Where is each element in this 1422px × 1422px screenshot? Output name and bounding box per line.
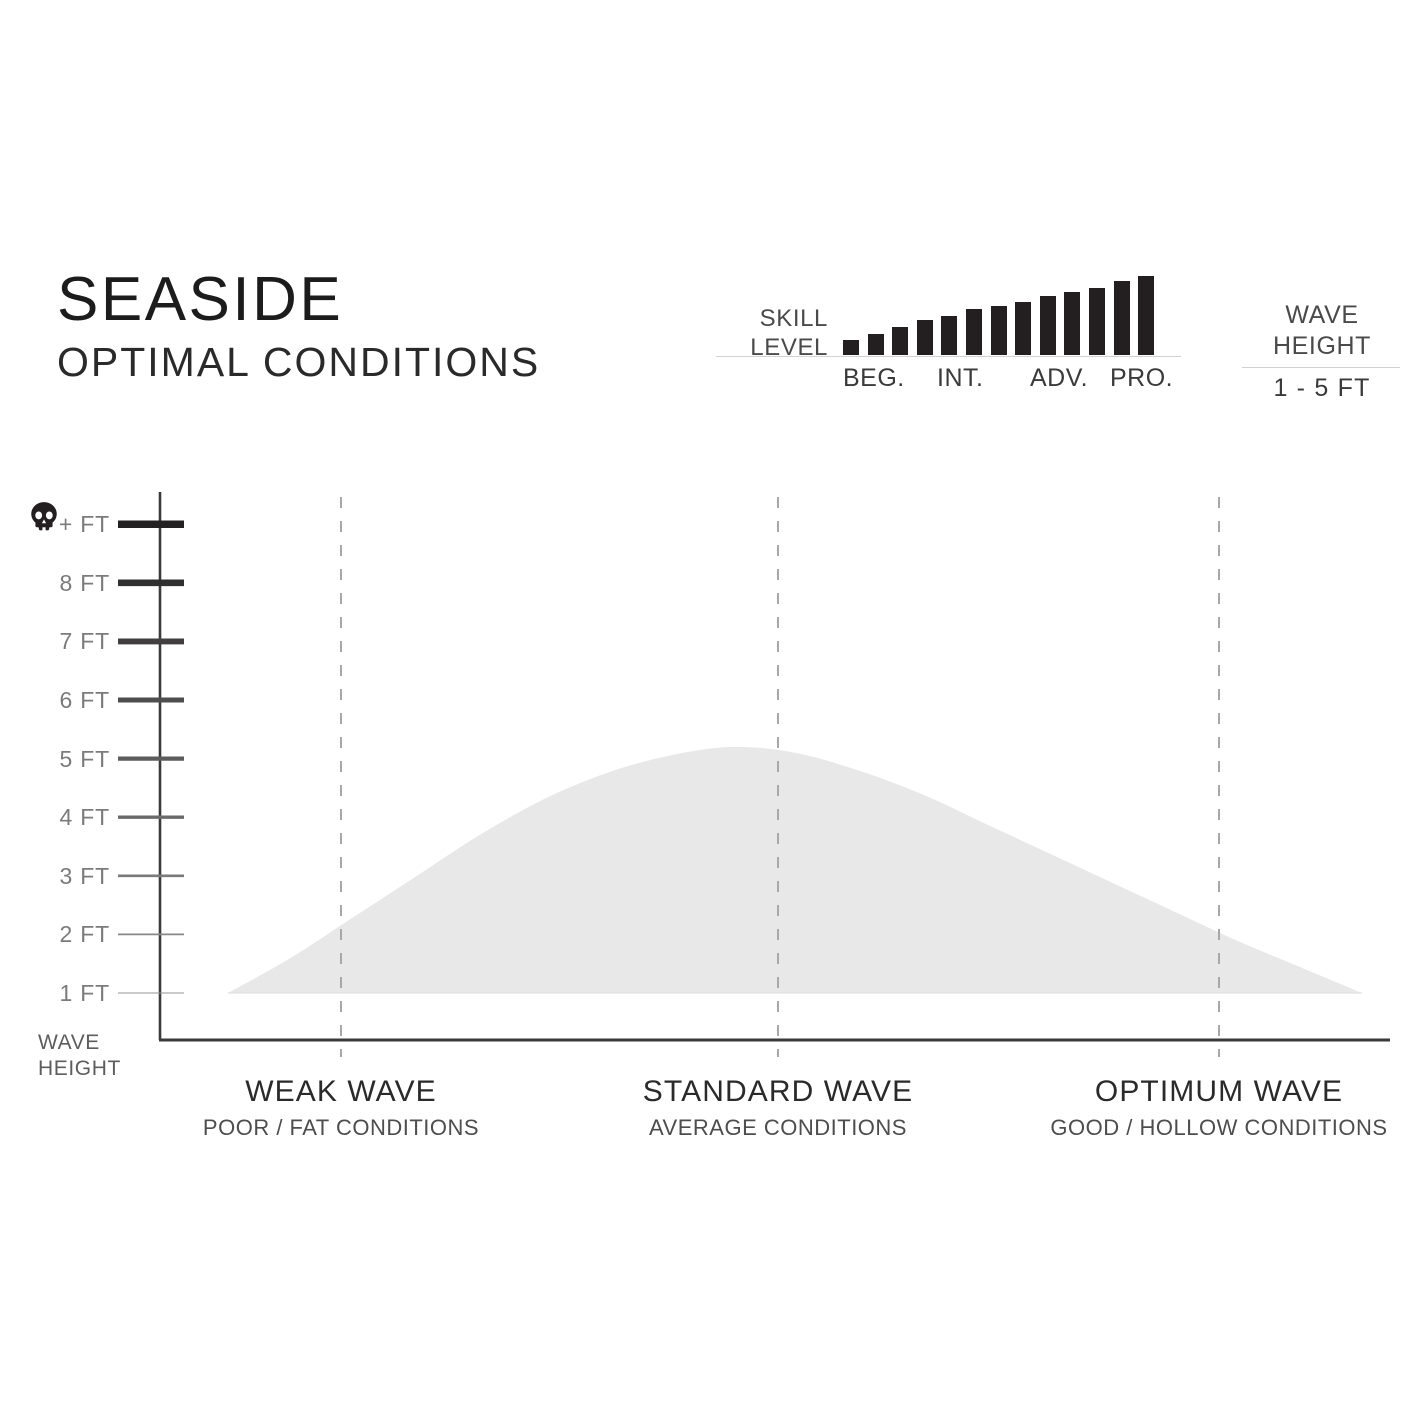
y-axis-label-7ft: 7 FT <box>10 628 110 655</box>
category-label-3: OPTIMUM WAVEGOOD / HOLLOW CONDITIONS <box>1019 1075 1419 1141</box>
wave-performance-area <box>228 747 1362 993</box>
y-axis-caption-line1: WAVE <box>38 1030 138 1056</box>
category-subtitle: AVERAGE CONDITIONS <box>578 1115 978 1141</box>
y-axis-caption: WAVE HEIGHT <box>38 1030 138 1083</box>
chart-svg <box>0 0 1422 1422</box>
category-label-2: STANDARD WAVEAVERAGE CONDITIONS <box>578 1075 978 1141</box>
category-subtitle: GOOD / HOLLOW CONDITIONS <box>1019 1115 1419 1141</box>
y-axis-label-6ft: 6 FT <box>10 687 110 714</box>
category-title: OPTIMUM WAVE <box>1019 1075 1419 1109</box>
y-axis-label-1ft: 1 FT <box>10 980 110 1007</box>
conditions-chart <box>0 0 1422 1422</box>
category-subtitle: POOR / FAT CONDITIONS <box>141 1115 541 1141</box>
category-title: STANDARD WAVE <box>578 1075 978 1109</box>
category-title: WEAK WAVE <box>141 1075 541 1109</box>
category-label-1: WEAK WAVEPOOR / FAT CONDITIONS <box>141 1075 541 1141</box>
y-axis-label-3ft: 3 FT <box>10 863 110 890</box>
y-axis-label-4ft: 4 FT <box>10 804 110 831</box>
y-axis-label-ft: + FT <box>10 511 110 538</box>
y-axis-caption-line2: HEIGHT <box>38 1056 138 1082</box>
infographic-root: SEASIDE OPTIMAL CONDITIONS SKILL LEVEL B… <box>0 0 1422 1422</box>
y-axis-label-8ft: 8 FT <box>10 570 110 597</box>
y-axis-label-5ft: 5 FT <box>10 746 110 773</box>
y-axis-label-2ft: 2 FT <box>10 921 110 948</box>
